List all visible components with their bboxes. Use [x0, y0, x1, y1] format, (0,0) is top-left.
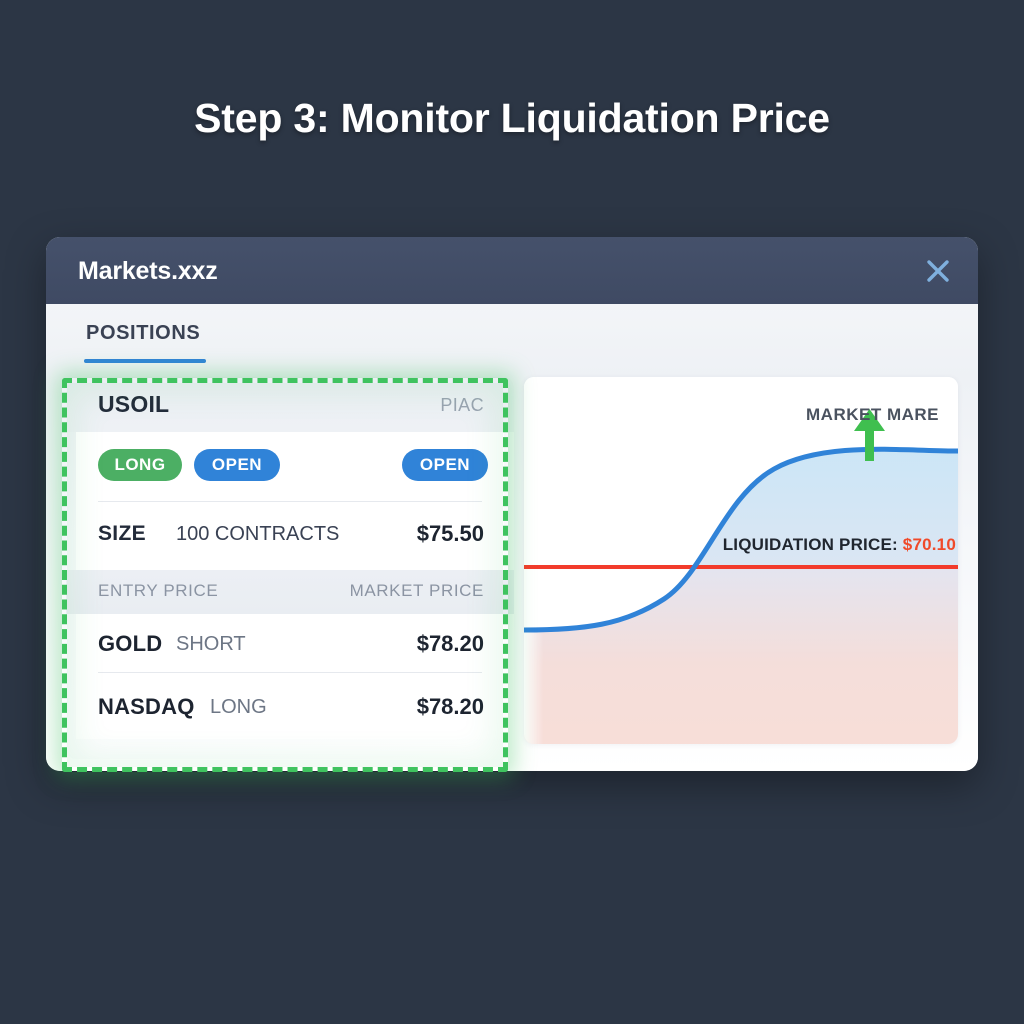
table-row[interactable]: GOLD: [98, 631, 162, 657]
badge-long[interactable]: LONG: [98, 449, 182, 481]
tab-positions[interactable]: POSITIONS: [86, 322, 200, 345]
badge-open-secondary[interactable]: OPEN: [402, 449, 488, 481]
column-header-entry-price: ENTRY PRICE: [98, 581, 218, 601]
size-label: SIZE: [98, 522, 146, 546]
tab-strip: POSITIONS: [46, 304, 978, 378]
row-side-nasdaq: LONG: [210, 696, 267, 719]
badge-open-primary[interactable]: OPEN: [194, 449, 280, 481]
positions-panel: USOIL PIAC LONG OPEN OPEN SIZE 100 CONTR…: [66, 377, 514, 759]
liquidation-chart-panel: MARKET MARE LIQUIDATION PRICE: $70.10: [524, 377, 958, 744]
close-icon[interactable]: [920, 253, 956, 289]
close-icon-glyph: [925, 258, 951, 284]
window-title: Markets.xxz: [78, 257, 218, 286]
row-divider: [98, 501, 482, 502]
row-price-nasdaq: $78.20: [417, 694, 484, 720]
window-header: Markets.xxz: [46, 237, 978, 305]
chart-left-fade: [524, 377, 644, 744]
position-symbol: USOIL: [98, 391, 169, 418]
row-price-gold: $78.20: [417, 631, 484, 657]
liquidation-price-annotation: LIQUIDATION PRICE: $70.10: [723, 535, 956, 555]
size-price: $75.50: [417, 521, 484, 547]
position-side-label: PIAC: [440, 395, 484, 416]
column-header-market-price: MARKET PRICE: [350, 581, 484, 601]
liquidation-chart: [524, 377, 958, 744]
table-row[interactable]: NASDAQ: [98, 694, 195, 720]
page-title: Step 3: Monitor Liquidation Price: [0, 95, 1024, 142]
liquidation-price-value: $70.10: [903, 535, 956, 554]
markets-window: Markets.xxz POSITIONS USOIL PIAC LONG OP…: [46, 237, 978, 771]
row-divider: [98, 672, 482, 673]
size-value: 100 CONTRACTS: [176, 523, 339, 546]
liquidation-price-label: LIQUIDATION PRICE:: [723, 535, 898, 554]
tab-active-underline: [84, 359, 206, 363]
row-side-gold: SHORT: [176, 633, 246, 656]
window-body: USOIL PIAC LONG OPEN OPEN SIZE 100 CONTR…: [46, 378, 978, 771]
market-mare-label: MARKET MARE: [806, 405, 939, 425]
